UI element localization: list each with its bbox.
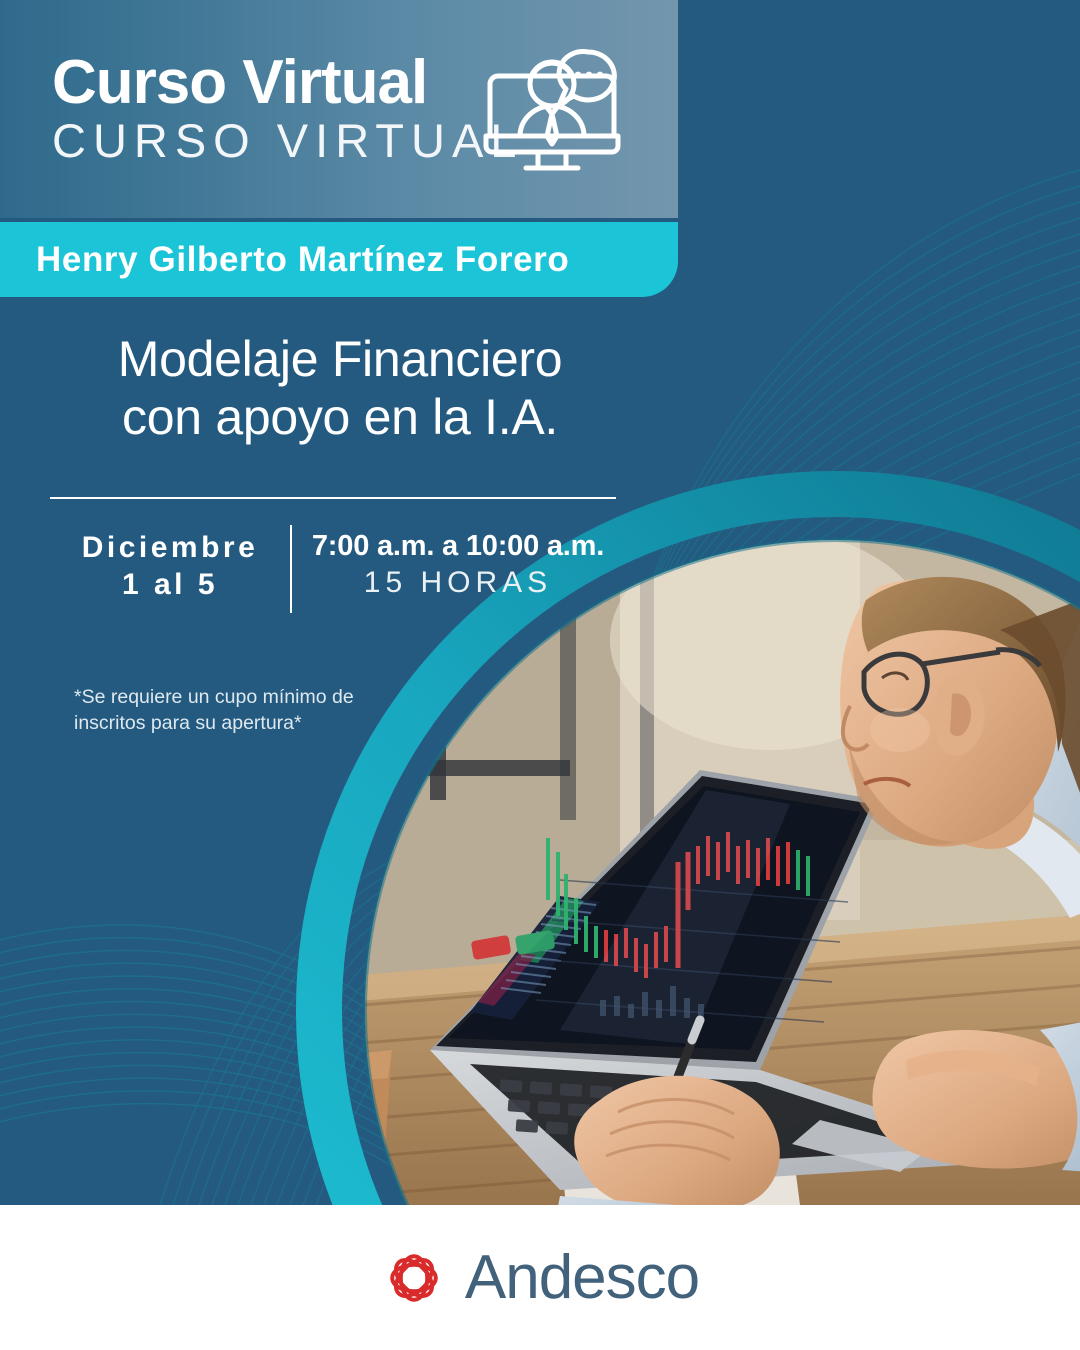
course-type-light: CURSO VIRTUAL (52, 116, 523, 165)
footer-bar: Andesco (0, 1205, 1080, 1350)
andesco-logo: Andesco (381, 1245, 699, 1311)
note-line-2: inscritos para su apertura* (74, 710, 434, 736)
andesco-wordmark: Andesco (465, 1247, 699, 1309)
minimum-enrollment-note: *Se requiere un cupo mínimo de inscritos… (74, 684, 434, 737)
horizontal-divider (50, 497, 616, 499)
schedule-time-range: 7:00 a.m. a 10:00 a.m. (308, 529, 608, 564)
presenter-band: Henry Gilberto Martínez Forero (0, 222, 678, 297)
presenter-name: Henry Gilberto Martínez Forero (36, 240, 569, 280)
schedule-duration: 15 HORAS (308, 564, 608, 602)
schedule-time: 7:00 a.m. a 10:00 a.m. 15 HORAS (308, 525, 608, 601)
schedule-vertical-divider (290, 525, 292, 613)
course-title-line-1: Modelaje Financiero (0, 330, 680, 388)
header-band: Curso Virtual CURSO VIRTUAL (0, 0, 678, 218)
course-type-bold: Curso Virtual (52, 53, 523, 114)
schedule-block: Diciembre 1 al 5 7:00 a.m. a 10:00 a.m. … (50, 525, 650, 617)
poster: Curso Virtual CURSO VIRTUAL (0, 0, 1080, 1350)
schedule-days: 1 al 5 (50, 567, 290, 604)
monitor-person-speech-bubble-icon (476, 44, 636, 184)
note-line-1: *Se requiere un cupo mínimo de (74, 684, 434, 710)
schedule-date: Diciembre 1 al 5 (50, 525, 290, 603)
course-title-block: Modelaje Financiero con apoyo en la I.A. (0, 330, 680, 446)
header-title-group: Curso Virtual CURSO VIRTUAL (52, 53, 523, 165)
course-title-line-2: con apoyo en la I.A. (0, 388, 680, 446)
schedule-month: Diciembre (50, 530, 290, 567)
andesco-knot-icon (381, 1245, 447, 1311)
